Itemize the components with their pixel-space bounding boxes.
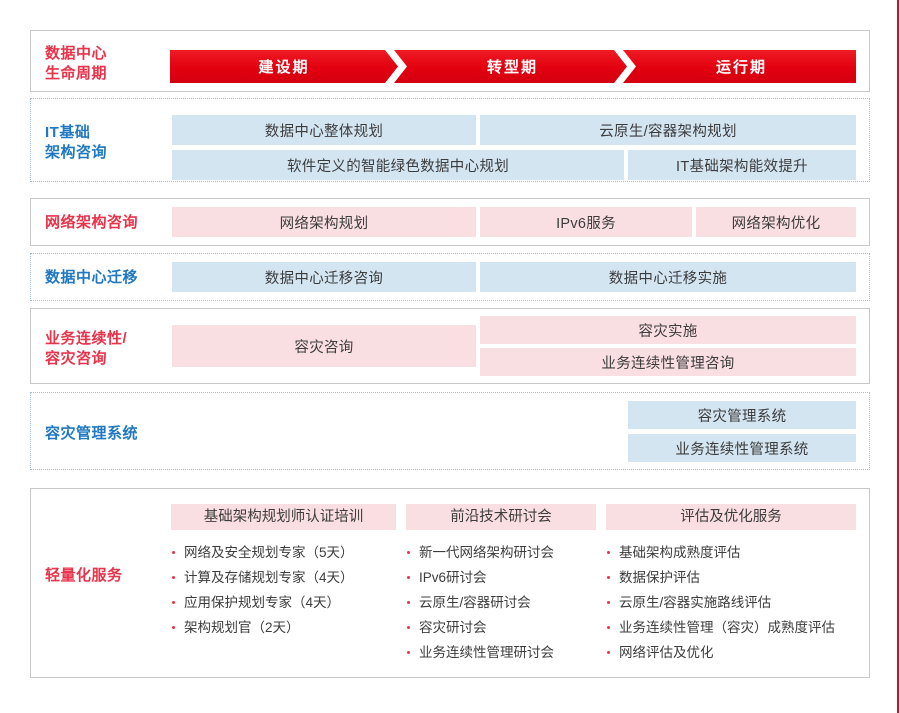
lightweight-column-assessment-optimization: 评估及优化服务 基础架构成熟度评估 数据保护评估 云原生/容器实施路线评估 业务… bbox=[606, 504, 856, 665]
list-item[interactable]: 容灾研讨会 bbox=[406, 615, 596, 640]
phase-segment-1[interactable]: 建设期 bbox=[170, 50, 398, 83]
cell-network-2[interactable]: IPv6服务 bbox=[480, 207, 692, 237]
cell-it-1[interactable]: 数据中心整体规划 bbox=[172, 115, 476, 145]
list-item[interactable]: IPv6研讨会 bbox=[406, 565, 596, 590]
list-item[interactable]: 网络评估及优化 bbox=[606, 640, 856, 665]
list-item[interactable]: 架构规划官（2天） bbox=[171, 615, 396, 640]
cell-it-4[interactable]: IT基础架构能效提升 bbox=[628, 150, 856, 180]
cell-bcdr-3[interactable]: 业务连续性管理咨询 bbox=[480, 348, 856, 376]
cell-migration-2[interactable]: 数据中心迁移实施 bbox=[480, 262, 856, 292]
phase-segment-2[interactable]: 转型期 bbox=[398, 50, 627, 83]
column-list-technology-seminars: 新一代网络架构研讨会 IPv6研讨会 云原生/容器研讨会 容灾研讨会 业务连续性… bbox=[406, 540, 596, 665]
right-edge-rule bbox=[897, 0, 899, 713]
cell-it-3[interactable]: 软件定义的智能绿色数据中心规划 bbox=[172, 150, 624, 180]
lifecycle-arrow-bar: 建设期 转型期 运行期 bbox=[170, 50, 856, 83]
list-item[interactable]: 应用保护规划专家（4天） bbox=[171, 590, 396, 615]
list-item[interactable]: 基础架构成熟度评估 bbox=[606, 540, 856, 565]
row-label-data-center-migration: 数据中心迁移 bbox=[45, 268, 138, 288]
list-item[interactable]: 业务连续性管理（容灾）成熟度评估 bbox=[606, 615, 856, 640]
row-label-dr-management-system: 容灾管理系统 bbox=[45, 424, 138, 444]
phase-segment-3[interactable]: 运行期 bbox=[627, 50, 856, 83]
row-label-business-continuity-dr-consulting: 业务连续性/ 容灾咨询 bbox=[45, 329, 127, 370]
lightweight-column-technology-seminars: 前沿技术研讨会 新一代网络架构研讨会 IPv6研讨会 云原生/容器研讨会 容灾研… bbox=[406, 504, 596, 665]
column-heading-certification-training: 基础架构规划师认证培训 bbox=[171, 504, 396, 530]
cell-drms-1[interactable]: 容灾管理系统 bbox=[628, 401, 856, 429]
list-item[interactable]: 网络及安全规划专家（5天） bbox=[171, 540, 396, 565]
row-label-network-architecture-consulting: 网络架构咨询 bbox=[45, 213, 138, 233]
cell-bcdr-2[interactable]: 容灾实施 bbox=[480, 316, 856, 344]
diagram-canvas: 数据中心 生命周期 建设期 转型期 运行期 IT基础 架构咨询 数据中心整体规划… bbox=[0, 0, 900, 713]
list-item[interactable]: 业务连续性管理研讨会 bbox=[406, 640, 596, 665]
list-item[interactable]: 数据保护评估 bbox=[606, 565, 856, 590]
cell-migration-1[interactable]: 数据中心迁移咨询 bbox=[172, 262, 476, 292]
list-item[interactable]: 云原生/容器研讨会 bbox=[406, 590, 596, 615]
cell-network-1[interactable]: 网络架构规划 bbox=[172, 207, 476, 237]
cell-network-3[interactable]: 网络架构优化 bbox=[696, 207, 856, 237]
cell-it-2[interactable]: 云原生/容器架构规划 bbox=[480, 115, 856, 145]
list-item[interactable]: 云原生/容器实施路线评估 bbox=[606, 590, 856, 615]
cell-drms-2[interactable]: 业务连续性管理系统 bbox=[628, 434, 856, 462]
list-item[interactable]: 新一代网络架构研讨会 bbox=[406, 540, 596, 565]
row-label-lifecycle: 数据中心 生命周期 bbox=[45, 44, 107, 85]
column-list-certification-training: 网络及安全规划专家（5天） 计算及存储规划专家（4天） 应用保护规划专家（4天）… bbox=[171, 540, 396, 640]
column-list-assessment-optimization: 基础架构成熟度评估 数据保护评估 云原生/容器实施路线评估 业务连续性管理（容灾… bbox=[606, 540, 856, 665]
column-heading-assessment-optimization: 评估及优化服务 bbox=[606, 504, 856, 530]
row-label-lightweight-services: 轻量化服务 bbox=[45, 564, 123, 585]
column-heading-technology-seminars: 前沿技术研讨会 bbox=[406, 504, 596, 530]
row-label-it-infrastructure-consulting: IT基础 架构咨询 bbox=[45, 123, 107, 164]
cell-bcdr-1[interactable]: 容灾咨询 bbox=[172, 325, 476, 367]
list-item[interactable]: 计算及存储规划专家（4天） bbox=[171, 565, 396, 590]
row-lightweight-services: 轻量化服务 基础架构规划师认证培训 网络及安全规划专家（5天） 计算及存储规划专… bbox=[30, 488, 870, 678]
lightweight-column-certification-training: 基础架构规划师认证培训 网络及安全规划专家（5天） 计算及存储规划专家（4天） … bbox=[171, 504, 396, 640]
